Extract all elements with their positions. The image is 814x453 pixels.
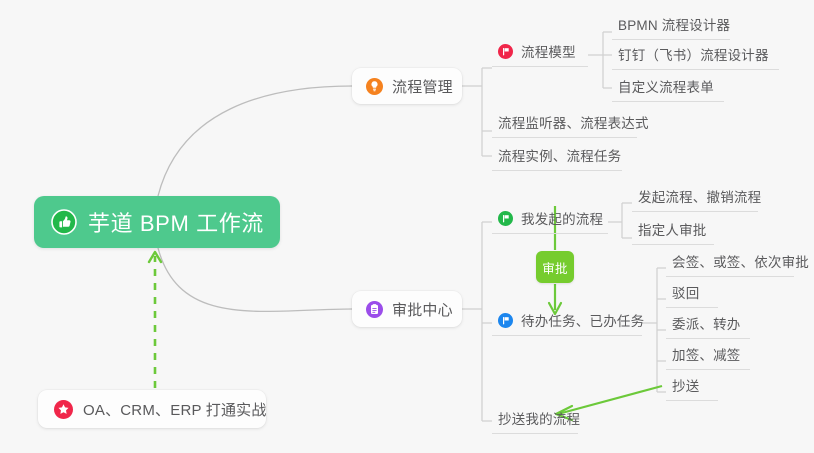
node-label-process-model: 流程模型 [521, 41, 576, 61]
branch-node-process-management[interactable]: 流程管理 [352, 68, 462, 104]
lightbulb-icon [366, 78, 383, 95]
leaf-add-remove-sign[interactable]: 加签、减签 [666, 344, 750, 370]
flag-icon-blue [498, 313, 513, 328]
leaf-start-cancel-process[interactable]: 发起流程、撤销流程 [632, 186, 758, 212]
leaf-cc[interactable]: 抄送 [666, 375, 718, 401]
connector-root-to-process-management [158, 86, 352, 196]
branch-label-process-management: 流程管理 [392, 76, 453, 97]
leaf-assignee-approval[interactable]: 指定人审批 [632, 219, 714, 245]
node-label-todo-done-tasks: 待办任务、已办任务 [521, 310, 644, 330]
root-label: 芋道 BPM 工作流 [88, 206, 264, 238]
leaf-cc-to-me-process[interactable]: 抄送我的流程 [492, 408, 578, 434]
mindmap-canvas: 芋道 BPM 工作流 流程管理 流程模型 BPMN 流程设计器 钉钉（飞书）流程… [0, 0, 814, 453]
node-label-my-initiated-process: 我发起的流程 [521, 208, 603, 228]
bottom-note-label: OA、CRM、ERP 打通实战 [83, 399, 267, 420]
branch-node-approval-center[interactable]: 审批中心 [352, 291, 462, 327]
leaf-delegate-transfer[interactable]: 委派、转办 [666, 313, 750, 339]
leaf-countersign-orsign-sequential[interactable]: 会签、或签、依次审批 [666, 251, 794, 277]
dashed-arrow-to-root [149, 252, 161, 388]
clipboard-icon [366, 301, 383, 318]
node-todo-done-tasks[interactable]: 待办任务、已办任务 [492, 310, 642, 336]
node-process-model[interactable]: 流程模型 [492, 41, 588, 67]
node-my-initiated-process[interactable]: 我发起的流程 [492, 208, 608, 234]
star-icon [54, 400, 73, 419]
branch-label-approval-center: 审批中心 [392, 299, 453, 320]
flag-icon-green [498, 211, 513, 226]
leaf-reject[interactable]: 驳回 [666, 282, 718, 308]
annotation-bottom-note[interactable]: OA、CRM、ERP 打通实战 [38, 390, 266, 428]
leaf-custom-process-form[interactable]: 自定义流程表单 [612, 76, 724, 102]
leaf-dingtalk-feishu-designer[interactable]: 钉钉（飞书）流程设计器 [612, 44, 779, 70]
flag-icon-red [498, 44, 513, 59]
thumbs-up-icon [51, 209, 77, 235]
annotation-approve-badge[interactable]: 审批 [536, 251, 574, 283]
leaf-process-instance-task[interactable]: 流程实例、流程任务 [492, 145, 622, 171]
leaf-bpmn-designer[interactable]: BPMN 流程设计器 [612, 14, 730, 40]
connector-root-to-approval-center [158, 248, 352, 311]
root-node[interactable]: 芋道 BPM 工作流 [34, 196, 280, 248]
leaf-process-listener-expression[interactable]: 流程监听器、流程表达式 [492, 112, 637, 138]
approve-badge-label: 审批 [542, 258, 568, 277]
